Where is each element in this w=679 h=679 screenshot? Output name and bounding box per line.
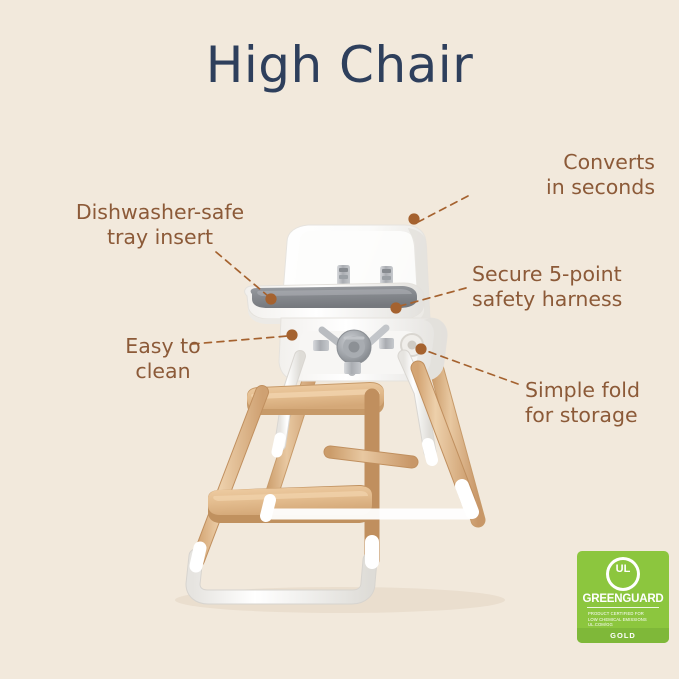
annotation-converts: Converts in seconds bbox=[455, 150, 655, 200]
annotation-harness: Secure 5-point safety harness bbox=[472, 262, 677, 312]
marker-dot-fold bbox=[415, 343, 426, 354]
badge-divider bbox=[587, 607, 659, 608]
annotation-easy-clean: Easy to clean bbox=[98, 334, 228, 384]
ul-mark-text: UL bbox=[609, 560, 637, 588]
marker-dot-harness bbox=[390, 302, 401, 313]
ul-logo-icon: UL bbox=[606, 557, 640, 591]
certification-badge: UL GREENGUARD PRODUCT CERTIFIED FOR LOW … bbox=[577, 551, 669, 643]
marker-dot-converts bbox=[408, 213, 419, 224]
infographic-canvas: High Chair bbox=[0, 0, 679, 679]
wood-seat-panel bbox=[247, 382, 384, 415]
marker-dot-tray bbox=[265, 293, 276, 304]
badge-level: GOLD bbox=[577, 628, 669, 643]
annotation-simple-fold: Simple fold for storage bbox=[525, 378, 679, 428]
marker-dot-easy-clean bbox=[286, 329, 297, 340]
badge-brand: GREENGUARD bbox=[577, 593, 669, 605]
annotation-dishwasher-tray: Dishwasher-safe tray insert bbox=[60, 200, 260, 250]
